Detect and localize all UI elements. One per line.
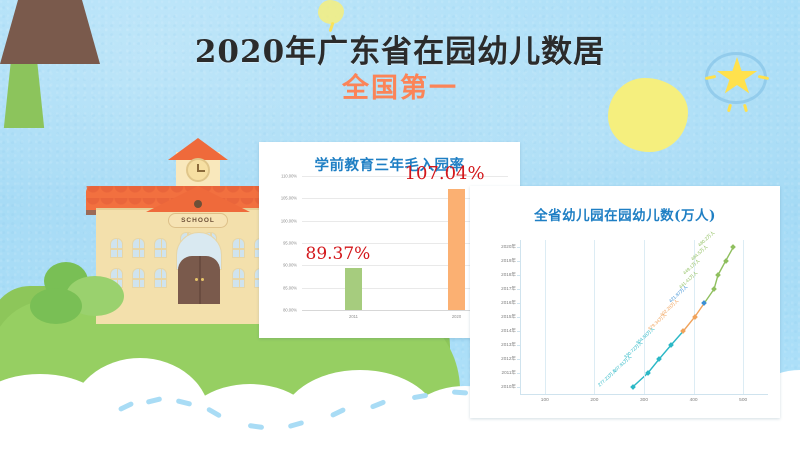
school-sign-label: SCHOOL bbox=[181, 217, 215, 224]
window bbox=[132, 238, 145, 258]
chart2-y-tick bbox=[517, 303, 520, 304]
chart2-title: 全省幼儿园在园幼儿数(万人) bbox=[470, 204, 780, 224]
chart2-y-tick-label: 2010年 bbox=[470, 384, 516, 390]
chart2-y-tick-label: 2011年 bbox=[470, 370, 516, 376]
chart2-y-tick-label: 2012年 bbox=[470, 356, 516, 362]
chart1-y-tick-label: 105.00% bbox=[261, 196, 297, 201]
chart2-y-tick-label: 2020年 bbox=[470, 244, 516, 250]
window bbox=[154, 268, 167, 288]
chart2-y-tick bbox=[517, 359, 520, 360]
chart2-y-tick-label: 2017年 bbox=[470, 286, 516, 292]
bush bbox=[30, 288, 82, 324]
chart2-y-tick-label: 2015年 bbox=[470, 314, 516, 320]
chart2-gridline bbox=[545, 240, 546, 394]
chart1-value-label: 89.37% bbox=[306, 244, 371, 264]
chart2-x-axis-line bbox=[520, 394, 768, 395]
chart2-y-tick-label: 2018年 bbox=[470, 272, 516, 278]
star-accent-top-center-icon bbox=[318, 0, 344, 24]
chart2-x-tick-label: 300 bbox=[640, 398, 648, 403]
chart1-y-tick-label: 85.00% bbox=[261, 285, 297, 290]
chart2-y-tick-label: 2013年 bbox=[470, 342, 516, 348]
chart-card-kindergarten-count: 全省幼儿园在园幼儿数(万人) 277.23万人307.81万人330.72万人3… bbox=[470, 186, 780, 418]
window bbox=[232, 238, 245, 258]
chart2-gridline bbox=[594, 240, 595, 394]
window bbox=[232, 268, 245, 288]
chart2-x-tick-label: 100 bbox=[541, 398, 549, 403]
title-line-2: 全国第一 bbox=[0, 72, 800, 106]
chart2-y-tick bbox=[517, 345, 520, 346]
chart2-y-tick bbox=[517, 275, 520, 276]
chart1-y-tick-label: 80.00% bbox=[261, 308, 297, 313]
chart2-gridline bbox=[644, 240, 645, 394]
school-sign: SCHOOL bbox=[168, 213, 228, 228]
chart2-gridline bbox=[743, 240, 744, 394]
page-title: 2020年广东省在园幼儿数居 全国第一 bbox=[0, 34, 800, 106]
chart2-y-tick bbox=[517, 387, 520, 388]
chart1-y-tick-label: 95.00% bbox=[261, 241, 297, 246]
chart2-y-tick-label: 2014年 bbox=[470, 328, 516, 334]
chart2-y-tick bbox=[517, 261, 520, 262]
clock-icon bbox=[186, 158, 210, 182]
chart2-y-tick bbox=[517, 317, 520, 318]
chart2-y-tick-label: 2019年 bbox=[470, 258, 516, 264]
window bbox=[154, 238, 167, 258]
chart2-y-tick bbox=[517, 247, 520, 248]
chart2-x-tick-label: 500 bbox=[739, 398, 747, 403]
chart1-y-tick-label: 100.00% bbox=[261, 218, 297, 223]
chart2-x-tick-label: 200 bbox=[590, 398, 598, 403]
title-line-1: 2020年广东省在园幼儿数居 bbox=[0, 34, 800, 72]
chart2-y-tick bbox=[517, 373, 520, 374]
chart2-y-tick-label: 2016年 bbox=[470, 300, 516, 306]
chart2-y-tick bbox=[517, 289, 520, 290]
chart1-bar[interactable] bbox=[448, 189, 465, 310]
window bbox=[110, 238, 123, 258]
chart1-y-tick-label: 110.00% bbox=[261, 174, 297, 179]
window bbox=[132, 268, 145, 288]
bell-icon bbox=[194, 200, 202, 208]
chart2-x-tick-label: 400 bbox=[690, 398, 698, 403]
school-door bbox=[178, 256, 220, 304]
chart2-y-tick bbox=[517, 331, 520, 332]
chart1-x-tick-label: 2020 bbox=[452, 314, 461, 319]
chart2-plot-area: 277.23万人307.81万人330.72万人354.58万人379.34万人… bbox=[520, 240, 768, 394]
chart1-x-tick-label: 2011 bbox=[349, 314, 358, 319]
chart1-value-label: 107.04% bbox=[405, 163, 485, 184]
chart1-y-tick-label: 90.00% bbox=[261, 263, 297, 268]
chart1-bar[interactable] bbox=[345, 268, 362, 310]
